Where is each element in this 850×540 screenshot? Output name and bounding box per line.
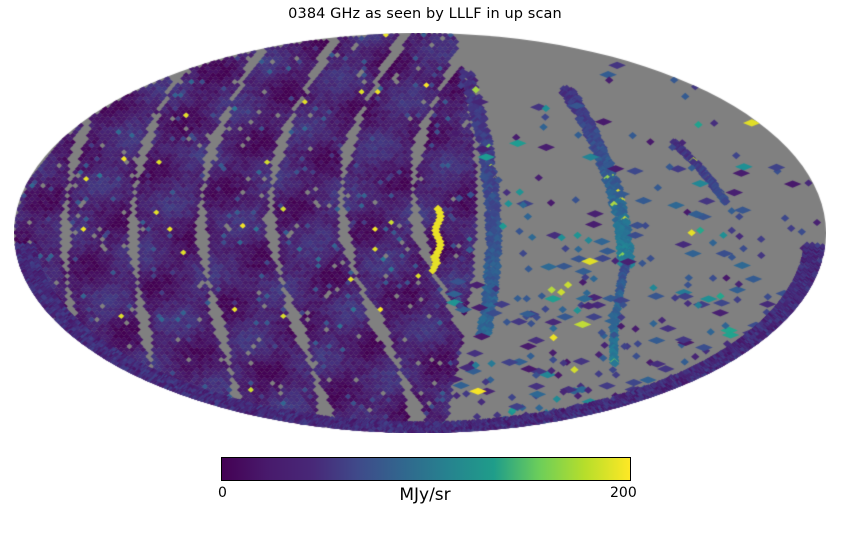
- sky-map: [14, 33, 826, 433]
- colorbar-gradient: [221, 457, 631, 481]
- mollweide-sky-map-canvas: [14, 33, 826, 433]
- figure-root: 0384 GHz as seen by LLLF in up scan 0 MJ…: [0, 0, 850, 540]
- colorbar: [221, 457, 631, 481]
- colorbar-max-tick-label: 200: [610, 485, 637, 501]
- colorbar-unit-label: MJy/sr: [0, 485, 850, 505]
- page-title: 0384 GHz as seen by LLLF in up scan: [0, 6, 850, 22]
